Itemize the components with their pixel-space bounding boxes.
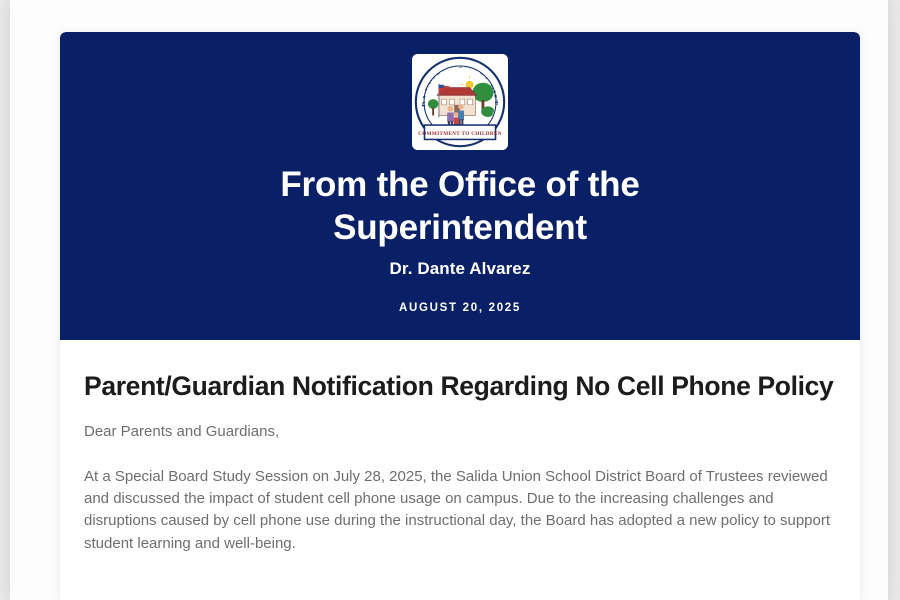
- newsletter-title: From the Office of the Superintendent: [180, 164, 740, 249]
- newsletter-body: Parent/Guardian Notification Regarding N…: [60, 340, 860, 595]
- logo-container: SALIDA UNION SCHOOL DISTRICT: [100, 54, 820, 150]
- article-salutation: Dear Parents and Guardians,: [84, 421, 836, 443]
- newsletter-card: SALIDA UNION SCHOOL DISTRICT: [60, 32, 860, 600]
- school-district-seal-icon: SALIDA UNION SCHOOL DISTRICT: [412, 54, 508, 150]
- newsletter-header: SALIDA UNION SCHOOL DISTRICT: [60, 32, 860, 340]
- page-background: SALIDA UNION SCHOOL DISTRICT: [0, 0, 900, 600]
- article-paragraph: At a Special Board Study Session on July…: [84, 466, 836, 555]
- article-title: Parent/Guardian Notification Regarding N…: [84, 370, 836, 403]
- seal-banner-text: COMMITMENT TO CHILDREN: [418, 131, 502, 137]
- superintendent-name: Dr. Dante Alvarez: [100, 259, 820, 279]
- document-sheet: SALIDA UNION SCHOOL DISTRICT: [10, 0, 888, 600]
- newsletter-date: AUGUST 20, 2025: [100, 302, 820, 314]
